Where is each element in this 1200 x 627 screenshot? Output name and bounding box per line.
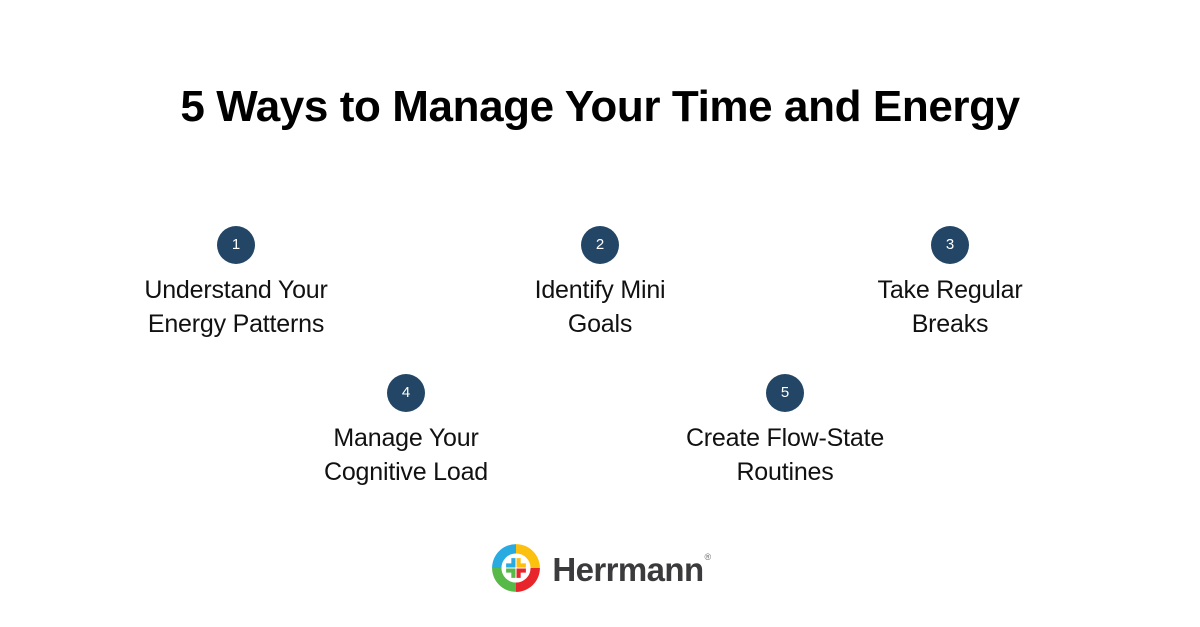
step-number-badge-4: 4 bbox=[387, 374, 425, 412]
step-label-1: Understand Your Energy Patterns bbox=[86, 273, 386, 341]
step-label-1-line2: Energy Patterns bbox=[86, 307, 386, 341]
herrmann-logo-icon bbox=[490, 542, 542, 594]
brand-wordmark: Herrmann® bbox=[552, 540, 709, 596]
step-label-5-line1: Create Flow-State bbox=[635, 421, 935, 455]
step-label-5-line2: Routines bbox=[635, 455, 935, 489]
step-number-badge-5: 5 bbox=[766, 374, 804, 412]
step-number-badge-1: 1 bbox=[217, 226, 255, 264]
step-label-4-line2: Cognitive Load bbox=[256, 455, 556, 489]
step-item-3: 3 Take Regular Breaks bbox=[800, 226, 1100, 341]
step-label-2: Identify Mini Goals bbox=[450, 273, 750, 341]
step-number-badge-3: 3 bbox=[931, 226, 969, 264]
step-label-4: Manage Your Cognitive Load bbox=[256, 421, 556, 489]
step-item-1: 1 Understand Your Energy Patterns bbox=[86, 226, 386, 341]
brand-footer: Herrmann® bbox=[0, 538, 1200, 598]
step-number-badge-2: 2 bbox=[581, 226, 619, 264]
step-item-4: 4 Manage Your Cognitive Load bbox=[256, 374, 556, 489]
step-label-4-line1: Manage Your bbox=[256, 421, 556, 455]
step-item-2: 2 Identify Mini Goals bbox=[450, 226, 750, 341]
step-label-3: Take Regular Breaks bbox=[800, 273, 1100, 341]
step-label-3-line1: Take Regular bbox=[800, 273, 1100, 307]
infographic-canvas: 5 Ways to Manage Your Time and Energy 1 … bbox=[0, 0, 1200, 627]
page-title: 5 Ways to Manage Your Time and Energy bbox=[0, 78, 1200, 136]
step-label-2-line1: Identify Mini bbox=[450, 273, 750, 307]
step-label-1-line1: Understand Your bbox=[86, 273, 386, 307]
brand-name: Herrmann bbox=[552, 551, 703, 588]
step-label-2-line2: Goals bbox=[450, 307, 750, 341]
step-label-5: Create Flow-State Routines bbox=[635, 421, 935, 489]
step-item-5: 5 Create Flow-State Routines bbox=[635, 374, 935, 489]
step-label-3-line2: Breaks bbox=[800, 307, 1100, 341]
registered-trademark-icon: ® bbox=[705, 552, 711, 562]
